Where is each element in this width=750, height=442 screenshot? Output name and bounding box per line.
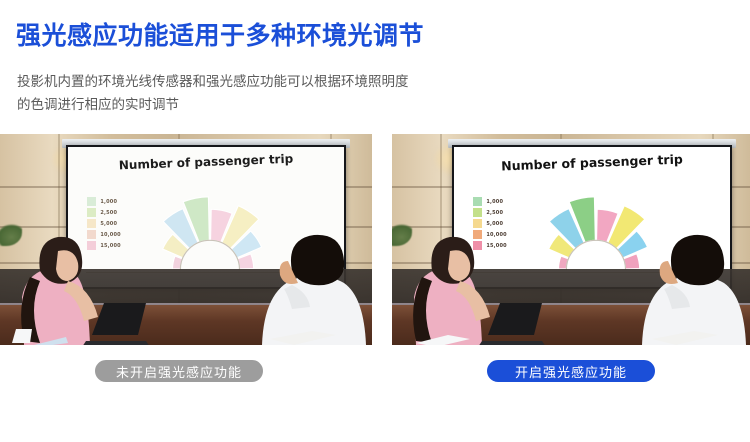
panel-with-light-sensing: Number of passenger trip 1,000 2,500 xyxy=(392,134,750,345)
notebook-paper-left xyxy=(268,321,338,345)
laptop-right xyxy=(476,297,548,345)
caption-light-sensing-on[interactable]: 开启强光感应功能 xyxy=(487,360,655,382)
notebook-paper-right xyxy=(650,321,720,345)
meeting-room-photo-left: Number of passenger trip 1,000 2,500 xyxy=(0,134,372,345)
comparison-panels: Number of passenger trip 1,000 2,500 xyxy=(0,134,750,345)
panel-without-light-sensing: Number of passenger trip 1,000 2,500 xyxy=(0,134,372,345)
page-description-line-2: 的色调进行相应的实时调节 xyxy=(17,93,637,116)
paper-left-right-panel xyxy=(412,323,474,345)
page-title: 强光感应功能适用于多种环境光调节 xyxy=(16,16,424,52)
laptop-left xyxy=(80,297,152,345)
page-description-line-1: 投影机内置的环境光线传感器和强光感应功能可以根据环境照明度 xyxy=(17,70,637,93)
meeting-room-photo-right: Number of passenger trip 1,000 2,500 xyxy=(392,134,750,345)
caption-light-sensing-off[interactable]: 未开启强光感应功能 xyxy=(95,360,263,382)
paper-cup-left xyxy=(6,323,68,345)
page-description: 投影机内置的环境光线传感器和强光感应功能可以根据环境照明度 的色调进行相应的实时… xyxy=(17,70,637,116)
